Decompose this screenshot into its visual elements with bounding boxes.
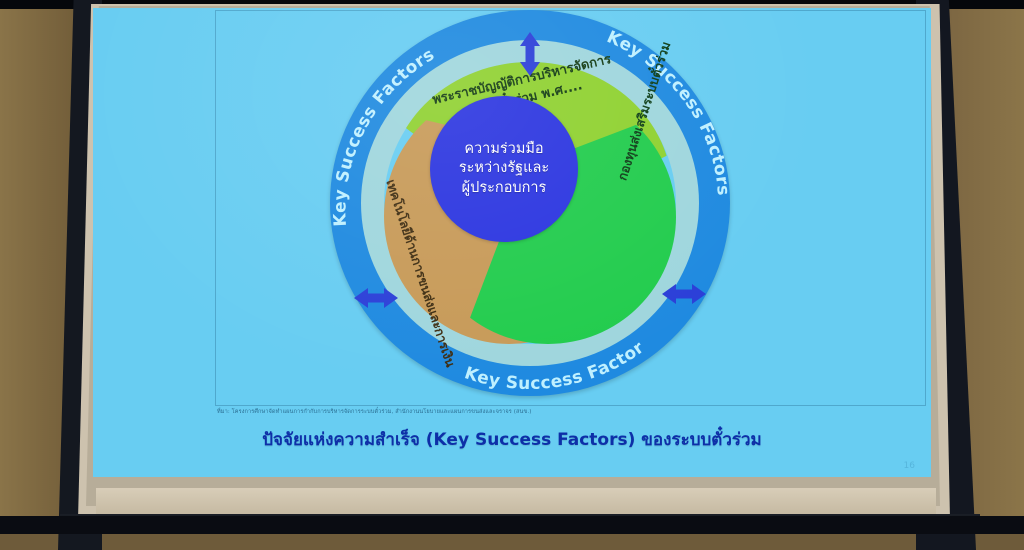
key-success-factors-diagram: Key Success Factors Key Success Factors … bbox=[330, 10, 730, 396]
slide-title: ปัจจัยแห่งความสำเร็จ (Key Success Factor… bbox=[93, 426, 931, 453]
center-circle: ความร่วมมือ ระหว่างรัฐและ ผู้ประกอบการ bbox=[430, 96, 578, 242]
page-number: 16 bbox=[904, 461, 915, 471]
center-line-2: ระหว่างรัฐและ bbox=[459, 159, 549, 178]
presentation-slide: Key Success Factors Key Success Factors … bbox=[93, 8, 931, 477]
floor-shadow bbox=[0, 516, 1024, 534]
center-line-1: ความร่วมมือ bbox=[459, 140, 549, 159]
center-circle-text: ความร่วมมือ ระหว่างรัฐและ ผู้ประกอบการ bbox=[459, 140, 549, 197]
slide-footnote: ที่มา: โครงการศึกษาจัดทำแผนการกำกับการบร… bbox=[217, 408, 917, 416]
center-line-3: ผู้ประกอบการ bbox=[459, 179, 549, 198]
